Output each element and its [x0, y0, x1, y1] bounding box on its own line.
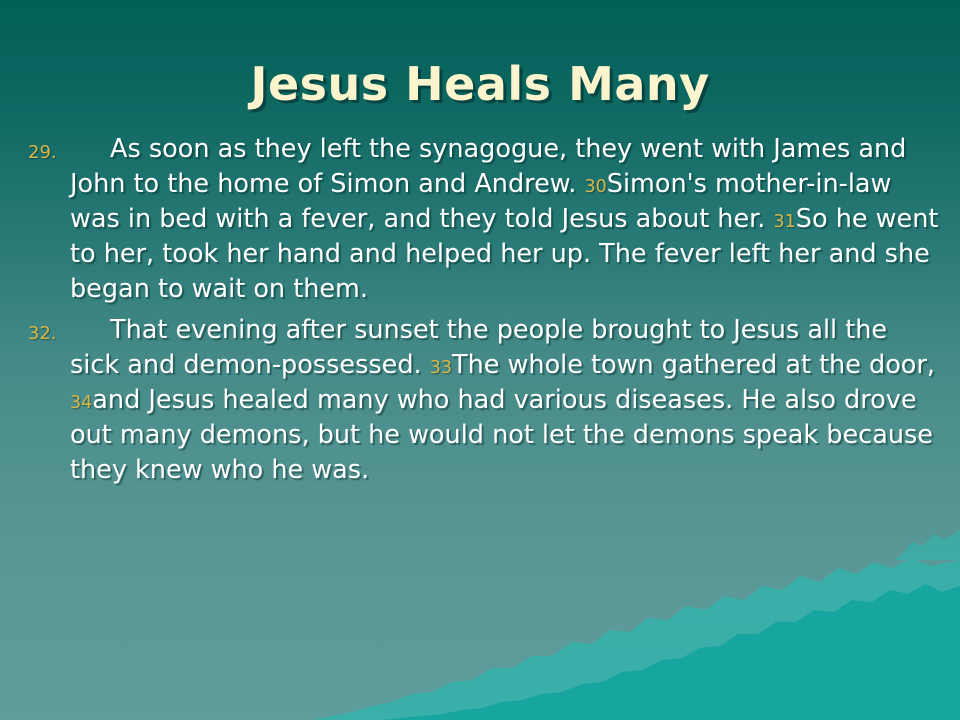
slide-title: Jesus Heals Many — [0, 58, 960, 110]
scripture-paragraph: 32. That evening after sunset the people… — [24, 313, 940, 488]
ridge-back-layer — [312, 558, 960, 720]
list-marker: 29. — [28, 135, 57, 170]
verse-text: The whole town gathered at the door, — [452, 350, 935, 380]
ridge-front-layer — [382, 584, 960, 720]
verse-number: 34 — [70, 393, 92, 413]
verse-number: 31 — [774, 212, 796, 232]
scripture-paragraph: 29. As soon as they left the synagogue, … — [24, 132, 940, 307]
ridge-right-edge-layer — [894, 530, 960, 560]
verse-text: and Jesus healed many who had various di… — [70, 385, 933, 485]
verse-number: 33 — [430, 358, 452, 378]
list-marker: 32. — [28, 316, 57, 351]
slide-body: 29. As soon as they left the synagogue, … — [24, 132, 940, 494]
presentation-slide: Jesus Heals Many 29. As soon as they lef… — [0, 0, 960, 720]
verse-number: 30 — [584, 177, 606, 197]
